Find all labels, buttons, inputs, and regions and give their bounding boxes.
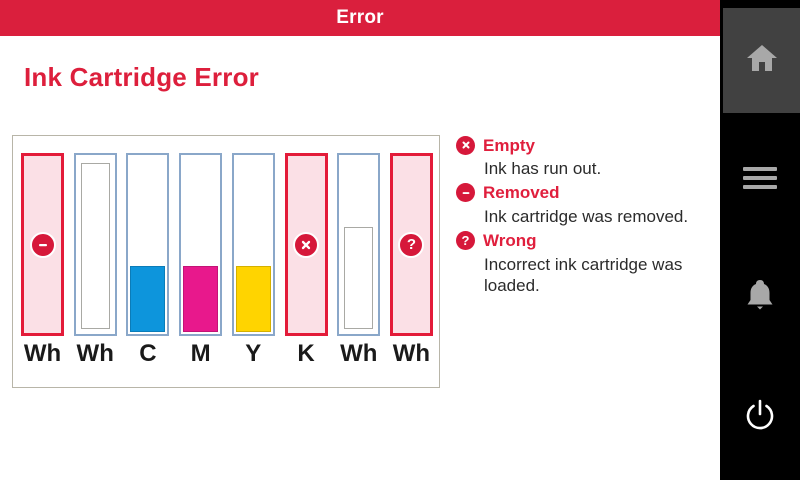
question-circle-icon: ? (456, 231, 475, 250)
cartridge-tank (285, 153, 328, 336)
error-legend: Empty Ink has run out. Removed Ink cartr… (456, 134, 706, 299)
page-title: Ink Cartridge Error (24, 62, 259, 93)
legend-description: Incorrect ink cartridge was loaded. (484, 255, 704, 297)
cartridge-slot-6[interactable]: K (285, 153, 328, 371)
cartridge-label: Wh (24, 342, 61, 366)
ink-level-cyan (130, 266, 165, 332)
cartridge-label: C (139, 342, 156, 366)
minus-circle-icon (456, 183, 475, 202)
legend-entry-wrong: ? Wrong Incorrect ink cartridge was load… (456, 230, 706, 297)
cartridge-slot-2[interactable]: Wh (74, 153, 117, 371)
cartridge-tank (74, 153, 117, 336)
cartridge-label: Wh (77, 342, 114, 366)
cartridge-label: K (297, 342, 314, 366)
cartridge-label: M (191, 342, 211, 366)
sidebar-button-alerts[interactable] (720, 260, 800, 335)
legend-term: Wrong (483, 232, 537, 249)
question-circle-icon: ? (398, 232, 424, 258)
cartridge-tank (232, 153, 275, 336)
window-title: Error (336, 7, 383, 29)
legend-entry-empty: Empty Ink has run out. (456, 134, 706, 180)
bell-icon (744, 278, 776, 317)
white-ink-level (81, 163, 110, 329)
window-titlebar: Error (0, 0, 720, 36)
white-ink-level (344, 227, 373, 329)
cartridge-tank (337, 153, 380, 336)
cartridge-label: Wh (393, 342, 430, 366)
legend-entry-removed: Removed Ink cartridge was removed. (456, 182, 706, 228)
legend-term: Removed (483, 184, 560, 201)
legend-description: Ink has run out. (484, 159, 704, 180)
cartridge-slot-8[interactable]: ? Wh (390, 153, 433, 371)
cartridge-slot-4[interactable]: M (179, 153, 222, 371)
cartridge-slot-7[interactable]: Wh (337, 153, 380, 371)
hamburger-menu-icon (743, 162, 777, 194)
cartridge-label: Wh (340, 342, 377, 366)
ink-cartridge-status-panel: Wh Wh C M (12, 135, 440, 388)
cartridge-slot-3[interactable]: C (126, 153, 169, 371)
hardware-button-sidebar (720, 0, 800, 480)
legend-term: Empty (483, 137, 535, 154)
cartridge-tank (126, 153, 169, 336)
cartridge-tank (21, 153, 64, 336)
cartridge-list: Wh Wh C M (21, 153, 433, 371)
power-icon (743, 398, 777, 437)
sidebar-button-menu[interactable] (720, 140, 800, 215)
minus-circle-icon (30, 232, 56, 258)
x-circle-icon (456, 136, 475, 155)
cartridge-tank (179, 153, 222, 336)
legend-description: Ink cartridge was removed. (484, 207, 704, 228)
cartridge-tank: ? (390, 153, 433, 336)
ink-level-magenta (183, 266, 218, 332)
cartridge-slot-5[interactable]: Y (232, 153, 275, 371)
application-screen: Error Ink Cartridge Error Wh (0, 0, 722, 480)
home-icon (745, 42, 779, 79)
sidebar-button-home[interactable] (723, 8, 800, 113)
cartridge-slot-1[interactable]: Wh (21, 153, 64, 371)
x-circle-icon (293, 232, 319, 258)
ink-level-yellow (236, 266, 271, 332)
cartridge-label: Y (245, 342, 261, 366)
sidebar-button-power[interactable] (720, 380, 800, 455)
